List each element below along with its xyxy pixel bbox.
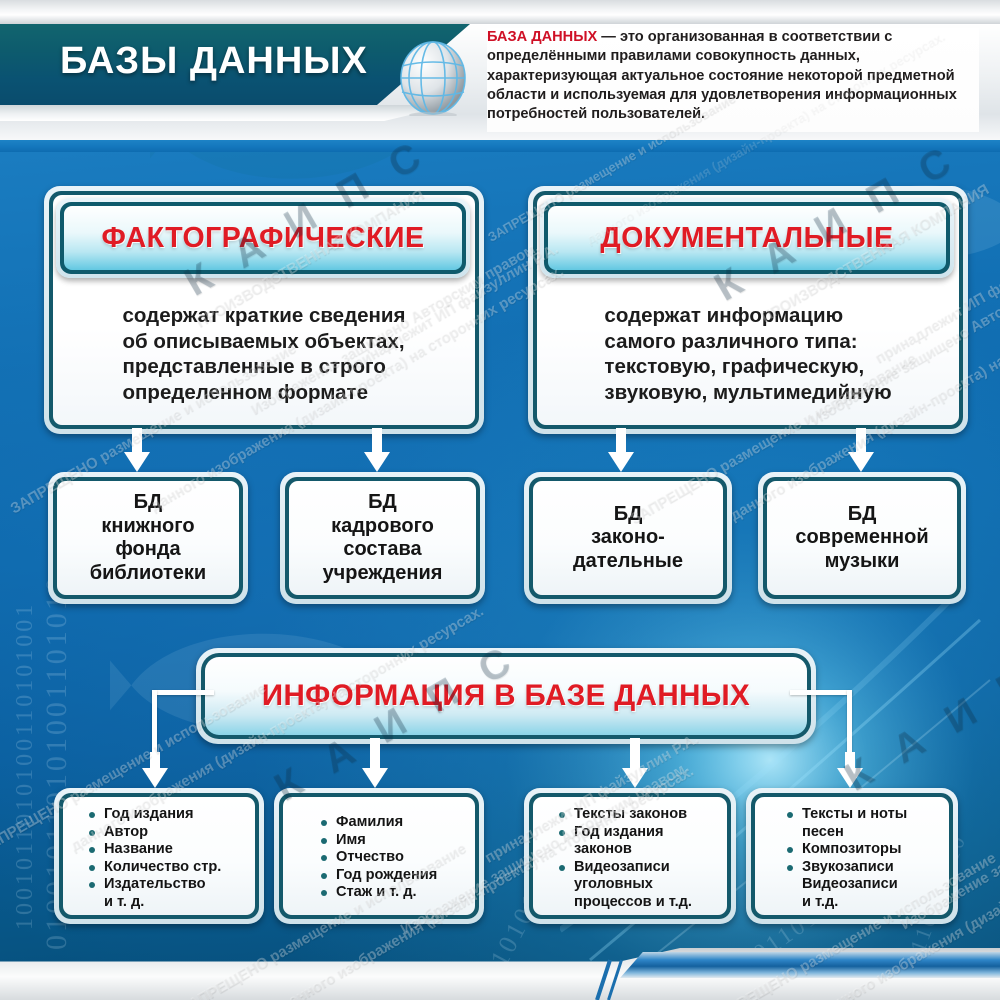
footer-decor-bar (620, 952, 1000, 978)
list-card-music-fields: Тексты и ноты песенКомпозиторыЗвукозапис… (746, 788, 958, 924)
field-list: ФамилияИмяОтчествоГод рожденияСтаж и т. … (319, 814, 437, 902)
list-item: Автор (87, 824, 221, 842)
list-item: Год рождения (319, 867, 437, 885)
leaf-label: БД книжного фонда библиотеки (90, 491, 206, 585)
list-item: Тексты и ноты песен (785, 806, 907, 841)
field-list: Тексты законовГод издания законовВидеоза… (557, 806, 692, 912)
page-title: БАЗЫ ДАННЫХ (60, 40, 430, 83)
list-item: Композиторы (785, 841, 907, 859)
list-card-legislative-fields: Тексты законовГод издания законовВидеоза… (524, 788, 736, 924)
arrow-down-icon (622, 738, 648, 788)
leaf-card-legislative: БД законо- дательные (524, 472, 732, 604)
list-item: Отчество (319, 849, 437, 867)
documentary-title: ДОКУМЕНТАЛЬНЫЕ (600, 222, 893, 255)
list-card-staff-fields: ФамилияИмяОтчествоГод рожденияСтаж и т. … (274, 788, 484, 924)
header-blue-bar (0, 140, 1000, 152)
list-item: Видеозаписи уголовных процессов и т.д. (557, 859, 692, 912)
list-item: Название (87, 841, 221, 859)
header-banner-shadow (0, 105, 452, 121)
list-item: Год издания (87, 806, 221, 824)
list-item: Тексты законов (557, 806, 692, 824)
list-item: Видеозаписи и т.д. (785, 876, 907, 911)
column-title-documentary: ДОКУМЕНТАЛЬНЫЕ (540, 198, 954, 278)
factographic-description: содержат краткие сведения об описываемых… (109, 303, 420, 405)
leaf-card-book-fund: БД книжного фонда библиотеки (48, 472, 248, 604)
list-item: Стаж и т. д. (319, 884, 437, 902)
binary-pattern: 1001011010100110101001 (12, 602, 39, 930)
list-item: Количество стр. (87, 859, 221, 877)
leaf-card-staff: БД кадрового состава учреждения (280, 472, 485, 604)
arrow-down-icon (848, 428, 874, 472)
list-item: Издательство (87, 876, 221, 894)
definition-term: БАЗА ДАННЫХ (487, 29, 597, 45)
arrow-down-icon (837, 752, 863, 788)
arrow-down-icon (142, 752, 168, 788)
list-card-book-fund-fields: Год изданияАвторНазваниеКоличество стр.И… (54, 788, 264, 924)
leaf-label: БД законо- дательные (573, 503, 683, 574)
watermark: К А И П С (837, 624, 1000, 800)
poster-root: 010010110101001101010 100101101010011010… (0, 0, 1000, 1000)
globe-wireframe-icon (395, 36, 471, 116)
field-list: Год изданияАвторНазваниеКоличество стр.И… (87, 806, 221, 912)
column-title-factographic: ФАКТОГРАФИЧЕСКИЕ (56, 198, 470, 278)
arrow-down-icon (364, 428, 390, 472)
list-item: Фамилия (319, 814, 437, 832)
list-item: Год издания законов (557, 824, 692, 859)
leaf-label: БД современной музыки (795, 503, 928, 574)
definition-text: БАЗА ДАННЫХ — это организованная в соотв… (487, 28, 979, 124)
arrow-down-icon (362, 738, 388, 788)
list-item: Звукозаписи (785, 859, 907, 877)
connector-left-vertical (152, 690, 157, 760)
top-strip (0, 0, 1000, 24)
field-list: Тексты и ноты песенКомпозиторыЗвукозапис… (785, 806, 907, 912)
definition-panel: БАЗА ДАННЫХ — это организованная в соотв… (487, 28, 979, 132)
list-item: и т. д. (87, 894, 221, 912)
connector-right-vertical (847, 690, 852, 760)
leaf-label: БД кадрового состава учреждения (323, 491, 443, 585)
arrow-down-icon (124, 428, 150, 472)
factographic-title: ФАКТОГРАФИЧЕСКИЕ (101, 222, 424, 255)
info-banner-title: ИНФОРМАЦИЯ В БАЗЕ ДАННЫХ (262, 679, 750, 713)
list-item: Имя (319, 832, 437, 850)
documentary-description: содержат информацию самого различного ти… (590, 303, 905, 405)
arrow-down-icon (608, 428, 634, 472)
info-banner-card: ИНФОРМАЦИЯ В БАЗЕ ДАННЫХ (196, 648, 816, 744)
leaf-card-modern-music: БД современной музыки (758, 472, 966, 604)
